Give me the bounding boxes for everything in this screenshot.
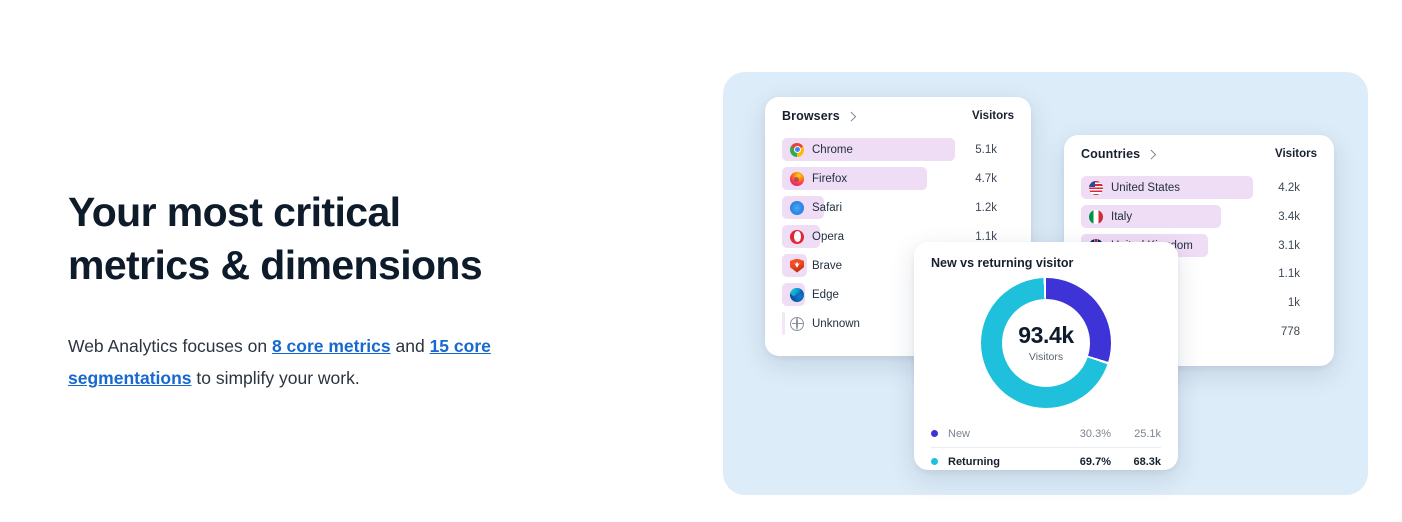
row-value: 4.7k (975, 173, 997, 185)
legend-percent: 69.7% (1059, 456, 1111, 468)
row-label: Brave (812, 260, 842, 272)
flag-it-icon (1089, 210, 1103, 224)
row-label: Chrome (812, 144, 853, 156)
row-value: 1.1k (1278, 268, 1300, 280)
legend-label: Returning (948, 456, 1059, 468)
row-value: 1.2k (975, 202, 997, 214)
firefox-icon (790, 172, 804, 186)
legend-item-returning[interactable]: Returning 69.7% 68.3k (931, 447, 1161, 475)
globe-icon (790, 317, 804, 331)
subcopy-part-3: to simplify your work. (192, 368, 360, 388)
link-core-metrics[interactable]: 8 core metrics (272, 336, 391, 356)
row-label: Opera (812, 231, 844, 243)
new-vs-returning-card: New vs returning visitor 93.4k Visitors … (914, 242, 1178, 470)
legend-value: 68.3k (1111, 456, 1161, 468)
row-value: 1k (1288, 297, 1300, 309)
legend-percent: 30.3% (1059, 428, 1111, 440)
edge-icon (790, 288, 804, 302)
legend-label: New (948, 428, 1059, 440)
legend-item-new[interactable]: New 30.3% 25.1k (931, 420, 1161, 447)
opera-icon (790, 230, 804, 244)
donut-legend: New 30.3% 25.1k Returning 69.7% 68.3k (931, 420, 1161, 475)
browsers-card-title: Browsers (782, 109, 840, 123)
browsers-card-header: Browsers Visitors (765, 97, 1031, 135)
hero-subcopy: Web Analytics focuses on 8 core metrics … (68, 330, 608, 394)
page-title: Your most critical metrics & dimensions (68, 186, 668, 292)
donut-center: 93.4k Visitors (1002, 299, 1090, 387)
donut-center-value: 93.4k (1018, 324, 1074, 347)
row-value: 4.2k (1278, 182, 1300, 194)
table-row[interactable]: United States 4.2k (1081, 173, 1317, 202)
donut-chart: 93.4k Visitors (981, 278, 1111, 408)
legend-dot-new (931, 430, 938, 437)
row-label: Safari (812, 202, 842, 214)
row-value: 3.4k (1278, 211, 1300, 223)
chevron-right-icon[interactable] (847, 112, 856, 121)
subcopy-part-1: Web Analytics focuses on (68, 336, 272, 356)
row-label: United States (1111, 182, 1180, 194)
countries-metric-header: Visitors (1275, 148, 1317, 160)
chevron-right-icon[interactable] (1147, 150, 1156, 159)
row-value: 5.1k (975, 144, 997, 156)
table-row[interactable]: Firefox 4.7k (782, 164, 1014, 193)
countries-card-title: Countries (1081, 147, 1140, 161)
row-value: 3.1k (1278, 240, 1300, 252)
donut-card-title: New vs returning visitor (914, 242, 1178, 270)
flag-us-icon (1089, 181, 1103, 195)
row-label: Firefox (812, 173, 847, 185)
legend-value: 25.1k (1111, 428, 1161, 440)
row-value: 1.1k (975, 231, 997, 243)
chrome-icon (790, 143, 804, 157)
table-row[interactable]: Chrome 5.1k (782, 135, 1014, 164)
row-label: Edge (812, 289, 839, 301)
row-value: 778 (1281, 326, 1300, 338)
countries-card-header: Countries Visitors (1064, 135, 1334, 173)
subcopy-part-2: and (391, 336, 430, 356)
row-label: Unknown (812, 318, 860, 330)
donut-center-label: Visitors (1029, 351, 1063, 363)
countries-title-group[interactable]: Countries (1081, 147, 1156, 161)
table-row[interactable]: Italy 3.4k (1081, 202, 1317, 231)
brave-icon (790, 259, 804, 273)
table-row[interactable]: Safari 1.2k (782, 193, 1014, 222)
safari-icon (790, 201, 804, 215)
row-label: Italy (1111, 211, 1132, 223)
browsers-metric-header: Visitors (972, 110, 1014, 122)
hero-copy: Your most critical metrics & dimensions … (68, 186, 668, 394)
legend-dot-returning (931, 458, 938, 465)
browsers-title-group[interactable]: Browsers (782, 109, 856, 123)
